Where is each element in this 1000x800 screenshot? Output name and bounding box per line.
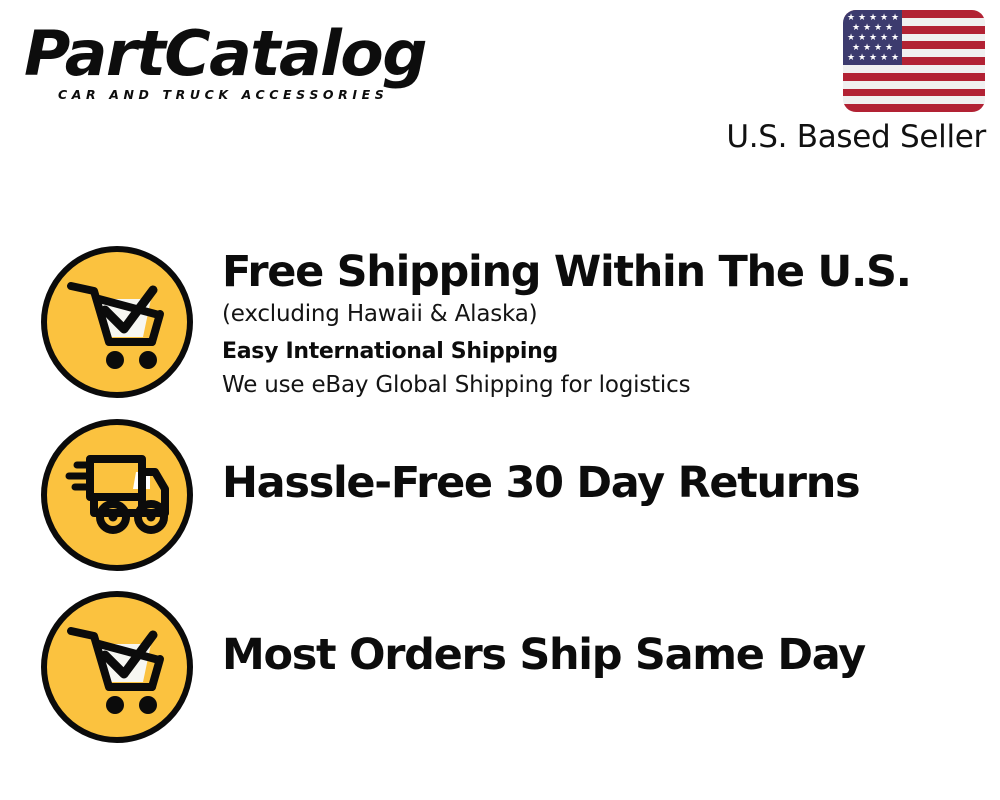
brand-wordmark: PartCatalog — [24, 22, 503, 86]
feature-title: Hassle-Free 30 Day Returns — [222, 457, 982, 509]
flag-star-icon: ★ — [880, 34, 888, 43]
feature-title: Free Shipping Within The U.S. — [222, 246, 982, 298]
feature-subtitle: We use eBay Global Shipping for logistic… — [222, 369, 982, 402]
flag-star-icon: ★ — [891, 14, 899, 23]
flag-star-icon: ★ — [863, 44, 871, 53]
flag-star-icon: ★ — [891, 34, 899, 43]
feature-row-free-shipping: Free Shipping Within The U.S. (excluding… — [0, 246, 1000, 406]
feature-subtitle-strong: Easy International Shipping — [222, 335, 982, 369]
flag-star-icon: ★ — [885, 24, 893, 33]
shopping-cart-check-badge — [41, 591, 193, 743]
flag-star-icon: ★ — [863, 24, 871, 33]
feature-text-block: Most Orders Ship Same Day — [222, 629, 982, 681]
flag-star-icon: ★ — [891, 54, 899, 63]
flag-star-icon: ★ — [874, 24, 882, 33]
feature-text-block: Hassle-Free 30 Day Returns — [222, 457, 982, 509]
flag-star-icon: ★ — [858, 54, 866, 63]
us-based-seller-label: U.S. Based Seller — [726, 118, 986, 156]
flag-stripe — [843, 104, 985, 112]
flag-stripe — [843, 81, 985, 89]
brand-logo[interactable]: PartCatalog CAR AND TRUCK ACCESSORIES — [24, 22, 494, 114]
flag-stripe — [843, 96, 985, 104]
shopping-cart-check-badge — [41, 246, 193, 398]
header-bar: PartCatalog CAR AND TRUCK ACCESSORIES ★ … — [0, 0, 1000, 170]
flag-star-icon: ★ — [869, 54, 877, 63]
feature-text-block: Free Shipping Within The U.S. (excluding… — [222, 246, 982, 402]
flag-stripe — [843, 73, 985, 81]
flag-star-icon: ★ — [874, 44, 882, 53]
flag-stripe — [843, 89, 985, 97]
delivery-truck-icon — [47, 425, 187, 565]
flag-star-icon: ★ — [880, 54, 888, 63]
shopping-cart-check-icon — [47, 597, 187, 737]
flag-star-icon: ★ — [852, 44, 860, 53]
flag-star-icon: ★ — [858, 34, 866, 43]
flag-star-icon: ★ — [885, 44, 893, 53]
feature-title: Most Orders Ship Same Day — [222, 629, 982, 681]
shopping-cart-check-icon — [47, 252, 187, 392]
flag-star-icon: ★ — [869, 34, 877, 43]
flag-star-icon: ★ — [869, 14, 877, 23]
flag-star-icon: ★ — [847, 54, 855, 63]
flag-star-icon: ★ — [858, 14, 866, 23]
feature-row-same-day-ship: Most Orders Ship Same Day — [0, 591, 1000, 743]
flag-star-icon: ★ — [847, 14, 855, 23]
feature-note: (excluding Hawaii & Alaska) — [222, 298, 982, 331]
flag-star-icon: ★ — [880, 14, 888, 23]
feature-row-returns: Hassle-Free 30 Day Returns — [0, 419, 1000, 571]
us-flag-icon: ★ ★ ★ ★ ★ ★ ★ ★ ★ ★ ★ ★ ★ ★ ★ ★ ★ ★ ★ ★ … — [843, 10, 985, 112]
flag-star-icon: ★ — [847, 34, 855, 43]
flag-stripe — [843, 65, 985, 73]
flag-canton: ★ ★ ★ ★ ★ ★ ★ ★ ★ ★ ★ ★ ★ ★ ★ ★ ★ ★ ★ ★ … — [843, 10, 902, 65]
delivery-truck-badge — [41, 419, 193, 571]
flag-star-icon: ★ — [852, 24, 860, 33]
